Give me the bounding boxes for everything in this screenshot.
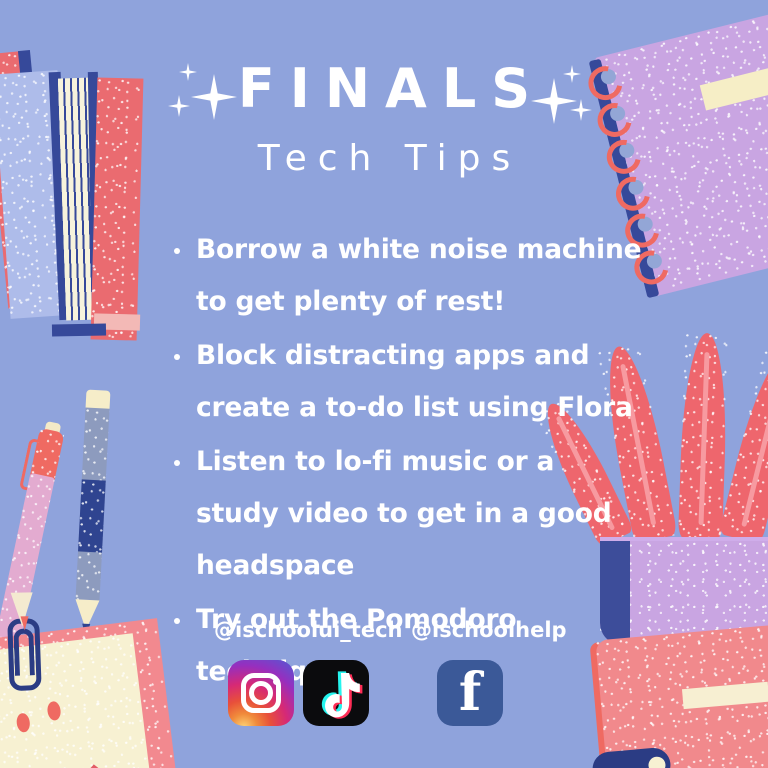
list-item: Listen to lo-fi music or a study video t… bbox=[172, 436, 642, 592]
facebook-icon[interactable]: f bbox=[437, 660, 503, 726]
tiktok-icon[interactable] bbox=[303, 660, 369, 726]
social-icons: f bbox=[0, 660, 768, 740]
page-title: FINALS bbox=[0, 62, 768, 116]
list-item: Block distracting apps and create a to-d… bbox=[172, 330, 642, 434]
instagram-tiktok-handle: @ischoolui_tech bbox=[214, 618, 402, 642]
instagram-icon[interactable] bbox=[228, 660, 294, 726]
facebook-handle: @ischoolhelp bbox=[411, 618, 567, 642]
social-section: @ischoolui_tech @ischoolhelp f bbox=[0, 618, 768, 740]
poster-canvas: FINALS Tech Tips Borrow a white noise ma… bbox=[0, 0, 768, 768]
social-handles: @ischoolui_tech @ischoolhelp bbox=[0, 618, 768, 648]
facebook-glyph: f bbox=[437, 660, 503, 726]
list-item: Borrow a white noise machine to get plen… bbox=[172, 224, 642, 328]
page-subtitle: Tech Tips bbox=[0, 141, 768, 177]
